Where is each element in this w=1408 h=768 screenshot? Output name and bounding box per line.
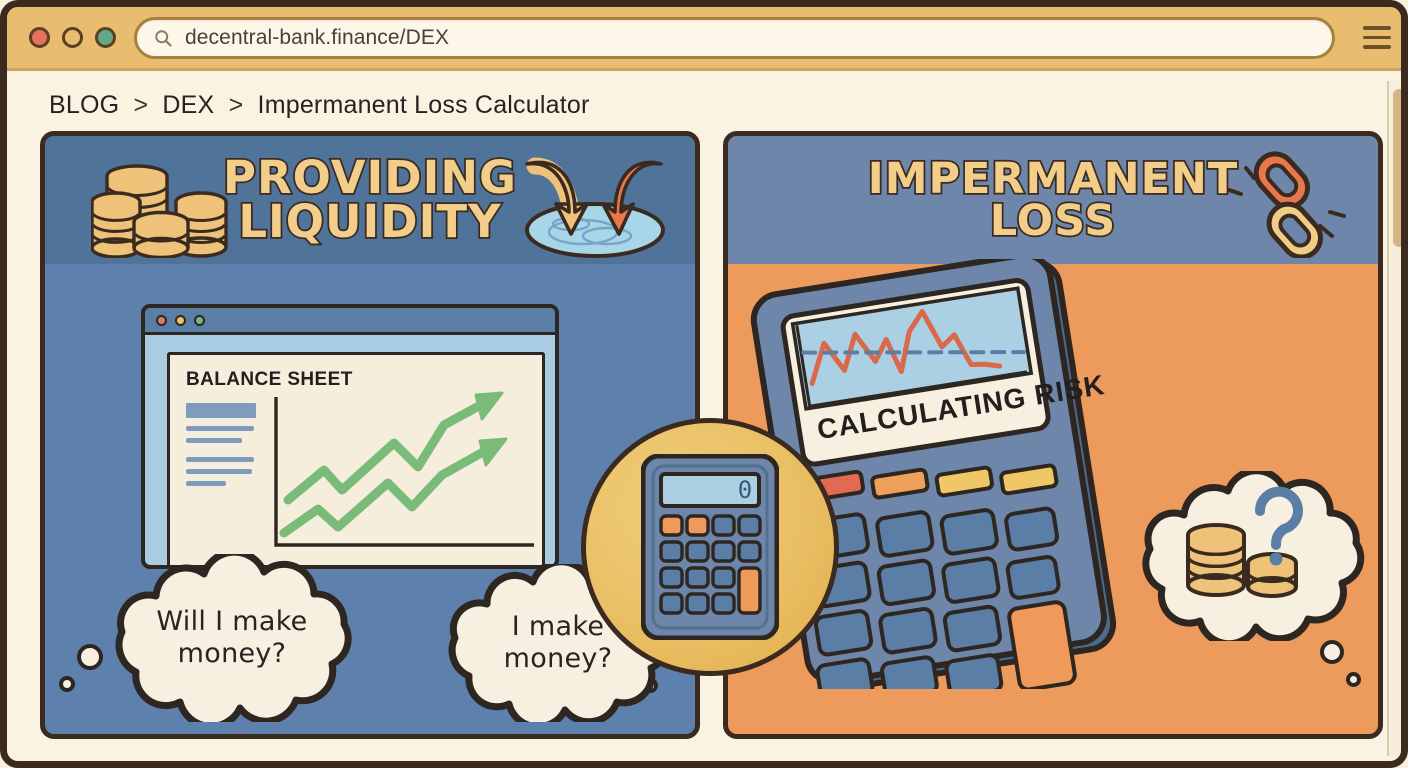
bs-close-dot[interactable]	[156, 315, 167, 326]
coin-stacks-icon	[91, 154, 233, 258]
bs-minimize-dot[interactable]	[175, 315, 186, 326]
right-panel-title: IMPERMANENT LOSS	[868, 158, 1239, 242]
bubble-will-i-make-money: Will I make money?	[100, 554, 364, 722]
placeholder-line	[186, 438, 242, 443]
placeholder-line	[186, 457, 254, 462]
bubble-tail-small	[59, 676, 75, 692]
window-controls	[29, 27, 116, 48]
panel-providing-liquidity: PROVIDING LIQUIDITY	[40, 131, 700, 739]
broken-chain-icon	[1224, 150, 1350, 258]
bubble-text: Will I make money?	[156, 606, 307, 670]
panel-impermanent-loss: IMPERMANENT LOSS	[723, 131, 1383, 739]
maximize-button[interactable]	[95, 27, 116, 48]
bubble-text: I make money?	[504, 611, 613, 675]
left-panel-header: PROVIDING LIQUIDITY	[45, 136, 695, 264]
browser-chrome: decentral-bank.finance/DEX	[7, 7, 1408, 71]
calculator-icon: 0	[641, 454, 779, 640]
right-panel-title-line2: LOSS	[868, 200, 1239, 242]
scrollbar-thumb[interactable]	[1393, 89, 1406, 247]
address-bar[interactable]: decentral-bank.finance/DEX	[134, 17, 1335, 59]
calculator-badge[interactable]: 0	[581, 418, 839, 676]
breadcrumb-item-dex[interactable]: DEX	[162, 91, 214, 119]
left-panel-title-line1: PROVIDING	[223, 156, 517, 200]
breadcrumb-separator: >	[229, 91, 244, 119]
placeholder-block	[186, 403, 256, 418]
bubble-tail-small	[1346, 672, 1361, 687]
placeholder-line	[186, 481, 226, 486]
page-content: BLOG > DEX > Impermanent Loss Calculator	[7, 71, 1408, 768]
right-panel-title-line1: IMPERMANENT	[868, 158, 1239, 200]
balance-sheet-content: BALANCE SHEET	[167, 352, 545, 567]
search-icon	[153, 28, 173, 48]
bubble-coins-question	[1132, 471, 1372, 641]
liquidity-pool-arrows-icon	[511, 154, 679, 262]
breadcrumb: BLOG > DEX > Impermanent Loss Calculator	[49, 91, 590, 120]
vertical-scrollbar[interactable]	[1387, 81, 1408, 756]
thought-bubble-shape	[1132, 471, 1372, 641]
url-text[interactable]: decentral-bank.finance/DEX	[185, 26, 449, 50]
calculator-display-value: 0	[738, 476, 752, 504]
breadcrumb-item-current: Impermanent Loss Calculator	[258, 91, 590, 119]
placeholder-line	[186, 469, 252, 474]
close-button[interactable]	[29, 27, 50, 48]
minimize-button[interactable]	[62, 27, 83, 48]
bs-maximize-dot[interactable]	[194, 315, 205, 326]
placeholder-line	[186, 426, 254, 431]
balance-sheet-titlebar	[145, 308, 555, 335]
right-panel-header: IMPERMANENT LOSS	[728, 136, 1378, 264]
balance-sheet-window: BALANCE SHEET	[141, 304, 559, 569]
left-panel-title: PROVIDING LIQUIDITY	[223, 156, 517, 244]
bubble-tail-large	[1320, 640, 1344, 664]
browser-window: decentral-bank.finance/DEX BLOG > DEX > …	[0, 0, 1408, 768]
breadcrumb-separator: >	[133, 91, 148, 119]
calculator-enter-key	[1008, 601, 1076, 689]
left-panel-title-line2: LIQUIDITY	[223, 200, 517, 244]
balance-sheet-placeholder-lines	[186, 403, 256, 493]
breadcrumb-item-blog[interactable]: BLOG	[49, 91, 119, 119]
growth-chart	[266, 385, 538, 557]
hamburger-menu-icon[interactable]	[1357, 26, 1397, 49]
